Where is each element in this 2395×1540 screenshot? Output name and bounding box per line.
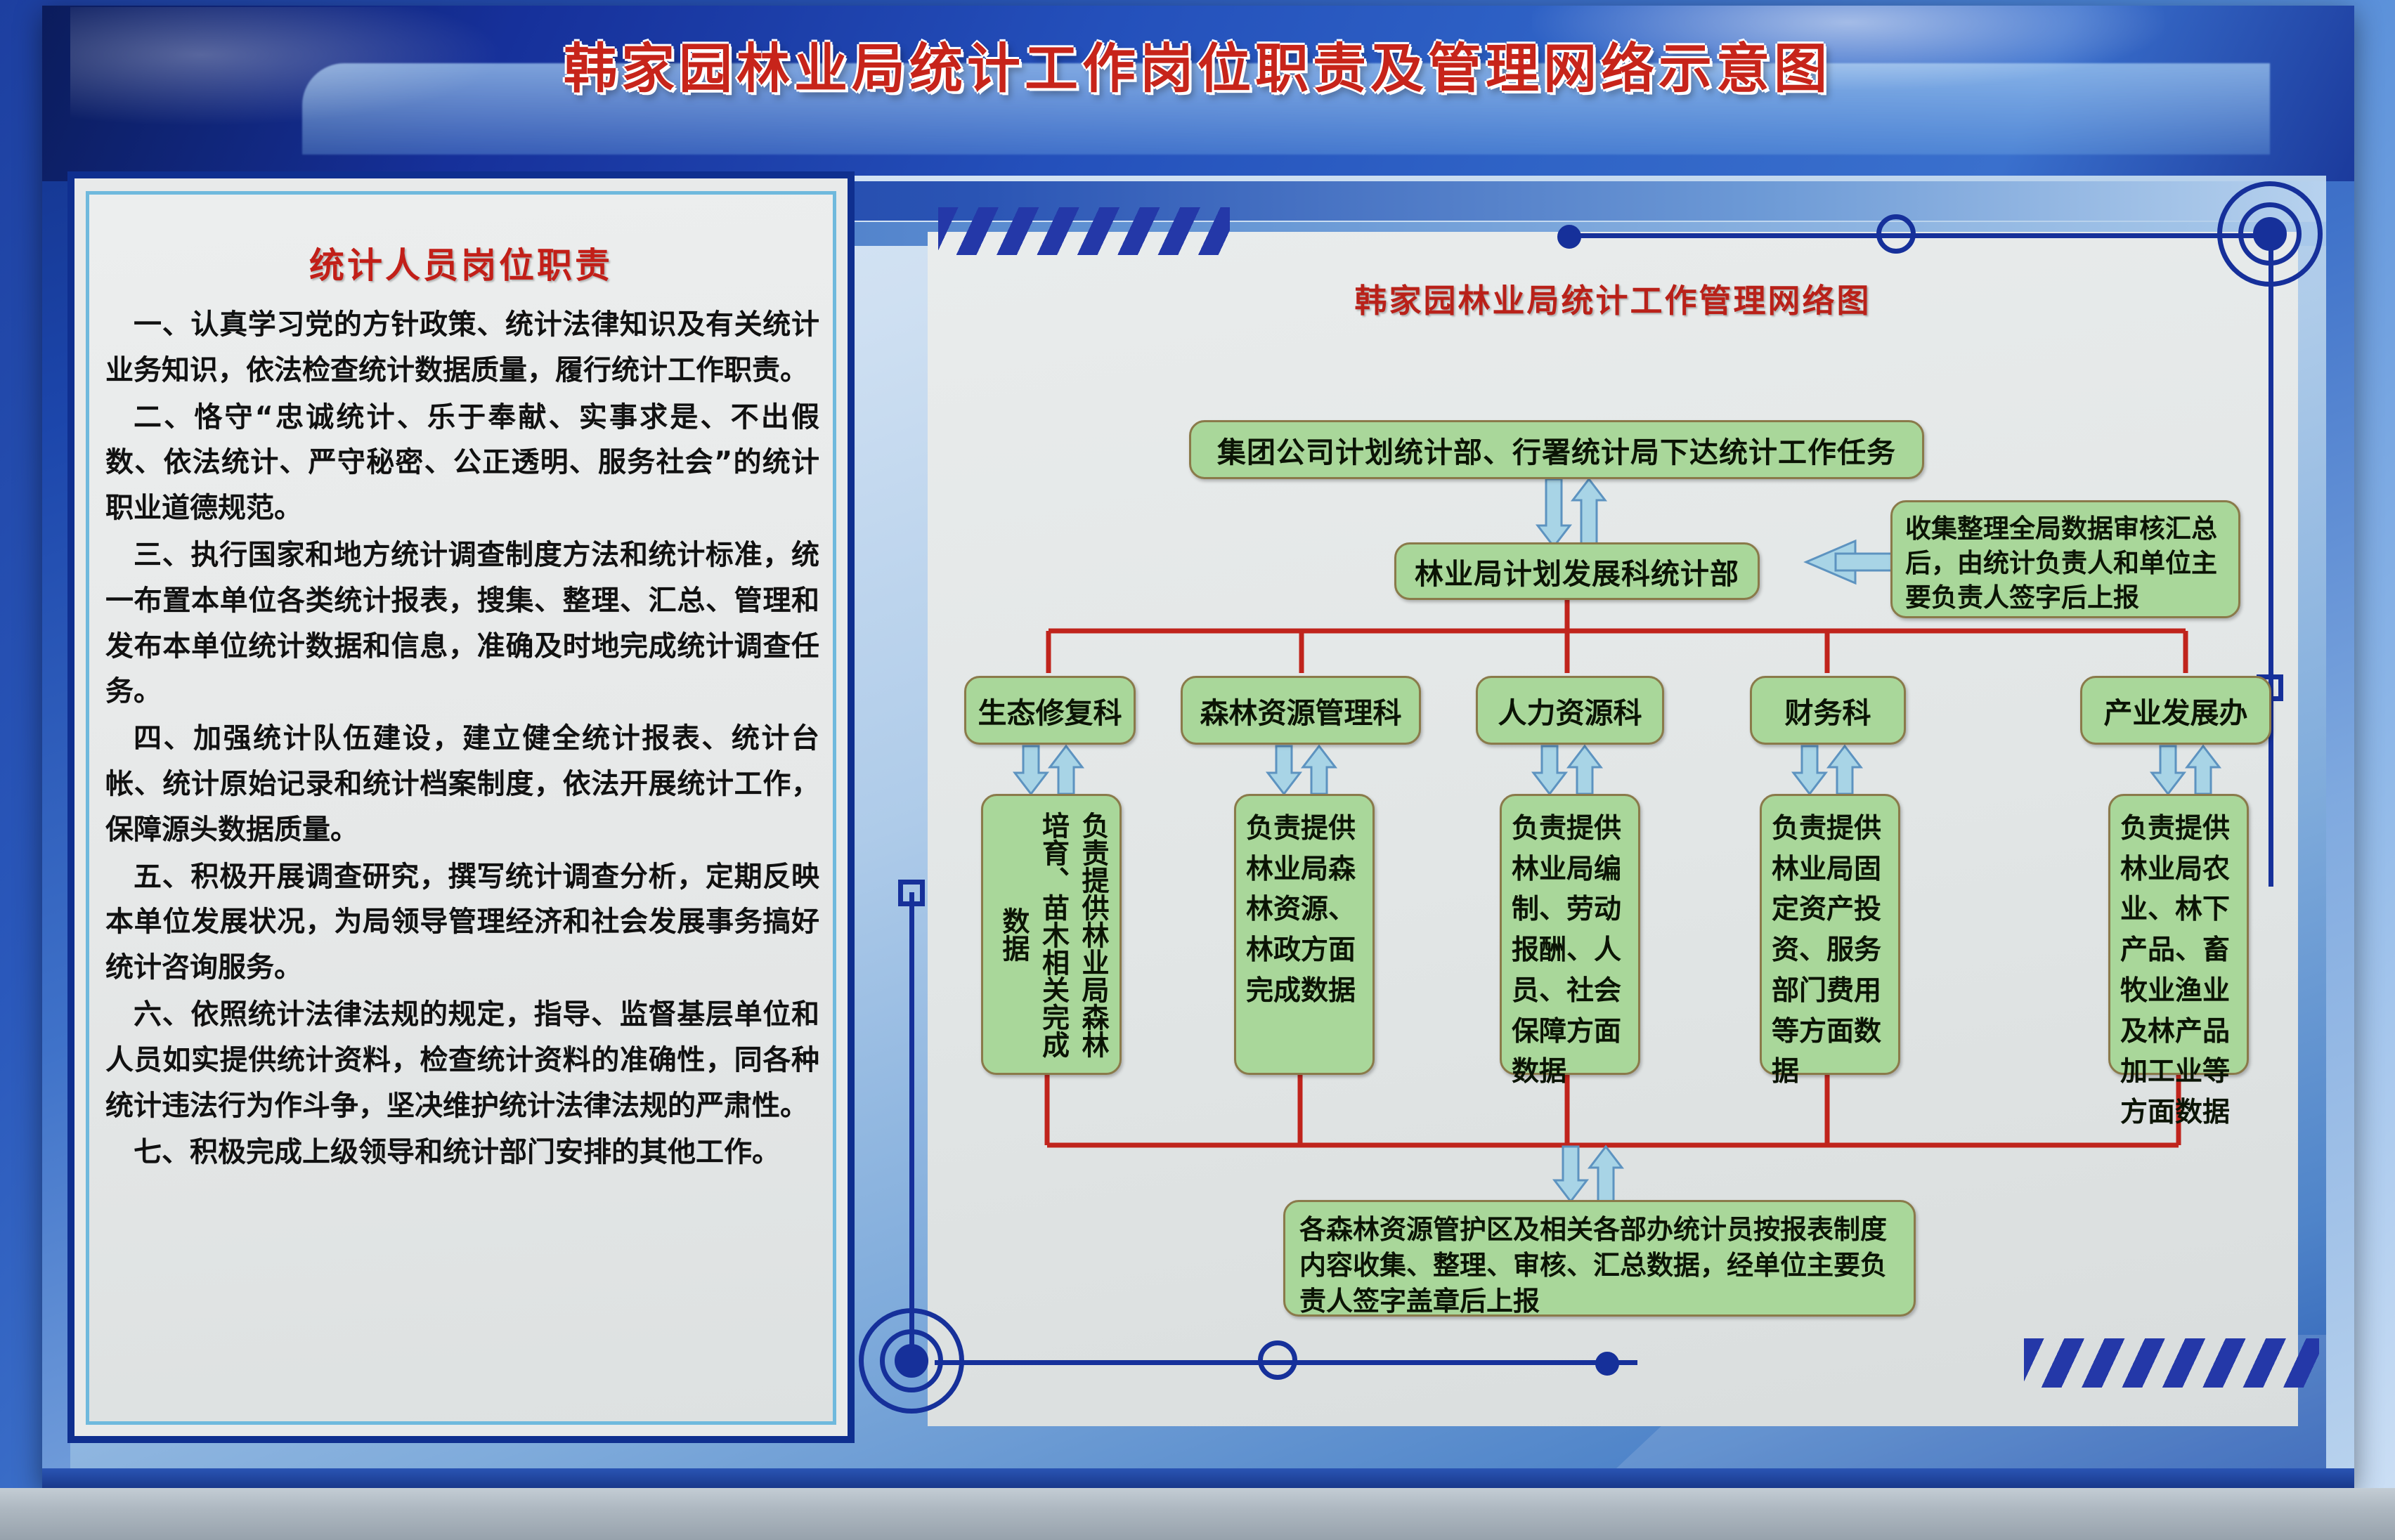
dept-node-0: 生态修复科 xyxy=(964,676,1136,745)
wall-below-board xyxy=(0,1488,2395,1540)
dept-node-1: 森林资源管理科 xyxy=(1181,676,1421,745)
duty-item: 二、恪守“忠诚统计、乐于奉献、实事求是、不出假数、依法统计、严守秘密、公正透明、… xyxy=(105,395,819,531)
duty-item: 三、执行国家和地方统计调查制度方法和统计标准，统一布置本单位各类统计报表，搜集、… xyxy=(105,533,819,714)
node-dot-top-left xyxy=(1557,225,1581,249)
target-ring-core-bottomleft xyxy=(895,1344,928,1378)
duty-item: 七、积极完成上级领导和统计部门安排的其他工作。 xyxy=(105,1130,819,1175)
flow-node-side-note: 收集整理全局数据审核汇总后，由统计负责人和单位主要负责人签字后上报 xyxy=(1890,500,2240,618)
node-dot-bottom-right xyxy=(1595,1352,1619,1376)
signboard-photo: 韩家园林业局统计工作岗位职责及管理网络示意图 统计人员岗位职责 一、认真学习党的… xyxy=(0,0,2395,1540)
node-square-left xyxy=(898,880,925,906)
nav-line-right xyxy=(2269,233,2273,887)
flow-node-bottom: 各森林资源管护区及相关各部办统计员按报表制度内容收集、整理、审核、汇总数据，经单… xyxy=(1283,1200,1916,1317)
duty-node-4: 负责提供林业局农业、林下产品、畜牧业渔业及林产品加工业等方面数据 xyxy=(2108,794,2249,1075)
target-ring-core-topright xyxy=(2253,217,2287,251)
duties-heading: 统计人员岗位职责 xyxy=(86,237,836,288)
node-circle-bottom xyxy=(1258,1340,1297,1380)
duty-node-1: 负责提供林业局森林资源、林政方面完成数据 xyxy=(1234,794,1375,1075)
hatch-decoration-bottom xyxy=(2024,1338,2319,1388)
flow-node-top: 集团公司计划统计部、行署统计局下达统计工作任务 xyxy=(1189,420,1924,479)
duty-node-0: 负责提供林业局森林培育、苗木相关完成数据 xyxy=(981,794,1122,1075)
duty-item: 四、加强统计队伍建设，建立健全统计报表、统计台帐、统计原始记录和统计档案制度，依… xyxy=(105,716,819,852)
duty-item: 五、积极开展调查研究，撰写统计调查分析，定期反映本单位发展状况，为局领导管理经济… xyxy=(105,854,819,991)
duty-item: 六、依照统计法律法规的规定，指导、监督基层单位和人员如实提供统计资料，检查统计资… xyxy=(105,992,819,1128)
duties-text-body: 一、认真学习党的方针政策、统计法律知识及有关统计业务知识，依法检查统计数据质量，… xyxy=(105,302,819,1177)
dept-node-3: 财务科 xyxy=(1750,676,1906,745)
duty-node-3: 负责提供林业局固定资产投资、服务部门费用等方面数据 xyxy=(1760,794,1900,1075)
duty-item: 一、认真学习党的方针政策、统计法律知识及有关统计业务知识，依法检查统计数据质量，… xyxy=(105,302,819,393)
page-title: 韩家园林业局统计工作岗位职责及管理网络示意图 xyxy=(0,25,2395,103)
diagram-title: 韩家园林业局统计工作管理网络图 xyxy=(928,275,2298,322)
node-circle-top xyxy=(1876,214,1916,254)
dept-node-2: 人力资源科 xyxy=(1476,676,1664,745)
nav-line-left xyxy=(909,892,914,1364)
nav-line-top xyxy=(1571,233,2273,238)
dept-node-4: 产业发展办 xyxy=(2080,676,2271,745)
flow-node-bureau-stats: 林业局计划发展科统计部 xyxy=(1394,542,1760,600)
duty-node-2: 负责提供林业局编制、劳动报酬、人员、社会保障方面数据 xyxy=(1500,794,1640,1075)
hatch-decoration-top xyxy=(938,207,1230,255)
